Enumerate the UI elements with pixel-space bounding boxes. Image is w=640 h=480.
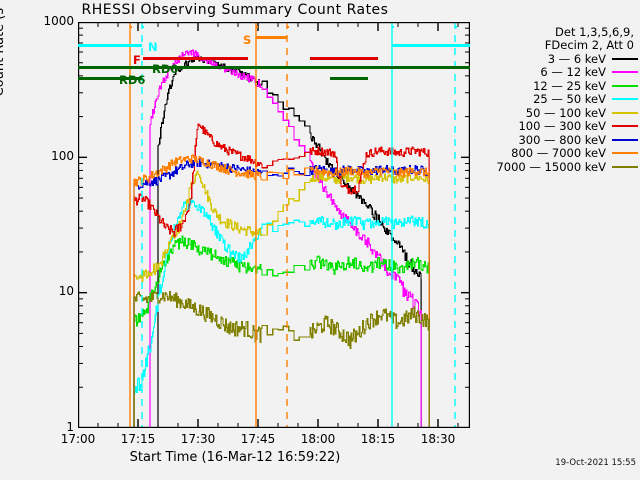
- legend-entry-swatch: [612, 139, 638, 141]
- flare-bar-2: [310, 57, 378, 60]
- y-axis-ticks: 1000 100 10 1: [30, 22, 74, 428]
- vline-saa-end-dashed-header: [287, 26, 289, 28]
- y-tick-label: 100: [34, 149, 74, 163]
- legend-entry-swatch: [612, 58, 638, 60]
- flare-bar-1: [143, 57, 248, 60]
- legend-entry-swatch: [612, 112, 638, 114]
- legend-entry: 300 — 800 keV: [476, 133, 640, 147]
- saa-marker-label: S: [243, 33, 251, 47]
- rd0-marker-label: RD0: [152, 62, 178, 76]
- legend-entry-label: 50 — 100 keV: [526, 106, 606, 120]
- x-axis-label: Start Time (16-Mar-12 16:59:22): [0, 450, 470, 465]
- saa-bar: [256, 36, 287, 39]
- y-axis-label: Count Rate (s⁻¹ detector⁻¹): [0, 0, 7, 118]
- vline-night-end-header: [392, 26, 394, 28]
- y-tick-label: 1000: [34, 14, 74, 28]
- vline-orbit-dashed-header: [455, 26, 457, 28]
- legend-entry-swatch: [612, 166, 638, 168]
- x-tick-label: 17:30: [181, 432, 216, 446]
- legend-entry: 800 — 7000 keV: [476, 147, 640, 161]
- vline-flare-start-header: [130, 26, 132, 28]
- legend-entry-label: 25 — 50 keV: [533, 92, 606, 106]
- legend-entry-label: 7000 — 15000 keV: [496, 160, 606, 174]
- legend-entry-label: 800 — 7000 keV: [511, 146, 606, 160]
- rd6-bar-right: [330, 77, 368, 80]
- vline-night-start-dashed-header: [142, 26, 144, 28]
- x-tick-label: 17:00: [61, 432, 96, 446]
- x-axis-ticks: 17:0017:1517:3017:4518:0018:1518:30: [0, 432, 640, 450]
- x-tick-label: 18:30: [421, 432, 456, 446]
- legend: Det 1,3,5,6,9, FDecim 2, Att 0 3 — 6 keV…: [476, 26, 640, 174]
- legend-entry-swatch: [612, 152, 638, 154]
- legend-entry: 25 — 50 keV: [476, 93, 640, 107]
- legend-entry-swatch: [612, 125, 638, 127]
- legend-entry-swatch: [612, 85, 638, 87]
- legend-entry-swatch: [612, 98, 638, 100]
- legend-entry-label: 3 — 6 keV: [548, 52, 606, 66]
- legend-entry: 3 — 6 keV: [476, 52, 640, 66]
- legend-entry-label: 100 — 300 keV: [518, 119, 606, 133]
- y-tick-label: 10: [34, 284, 74, 298]
- legend-entry: 6 — 12 keV: [476, 66, 640, 80]
- night-marker-label: N: [148, 40, 158, 54]
- x-tick-label: 17:15: [121, 432, 156, 446]
- vline-saa-start-header: [256, 26, 258, 28]
- legend-entry: 12 — 25 keV: [476, 79, 640, 93]
- legend-header-decimation: FDecim 2, Att 0: [476, 39, 640, 52]
- rd6-marker-label: RD6: [119, 73, 145, 87]
- legend-entries: 3 — 6 keV6 — 12 keV12 — 25 keV25 — 50 ke…: [476, 52, 640, 174]
- legend-entry-swatch: [612, 71, 638, 73]
- x-tick-label: 18:00: [301, 432, 336, 446]
- night-bar-left: [78, 44, 142, 47]
- legend-entry-label: 300 — 800 keV: [518, 133, 606, 147]
- plot-page: RHESSI Observing Summary Count Rates Cou…: [0, 0, 640, 480]
- legend-entry-label: 12 — 25 keV: [533, 79, 606, 93]
- legend-entry: 50 — 100 keV: [476, 106, 640, 120]
- night-bar-right: [392, 44, 470, 47]
- x-tick-label: 18:15: [361, 432, 396, 446]
- x-tick-label: 17:45: [241, 432, 276, 446]
- legend-entry: 7000 — 15000 keV: [476, 160, 640, 174]
- render-timestamp: 19-Oct-2021 15:55: [500, 458, 636, 468]
- flare-marker-label: F: [133, 53, 141, 67]
- legend-entry: 100 — 300 keV: [476, 120, 640, 134]
- legend-entry-label: 6 — 12 keV: [540, 65, 606, 79]
